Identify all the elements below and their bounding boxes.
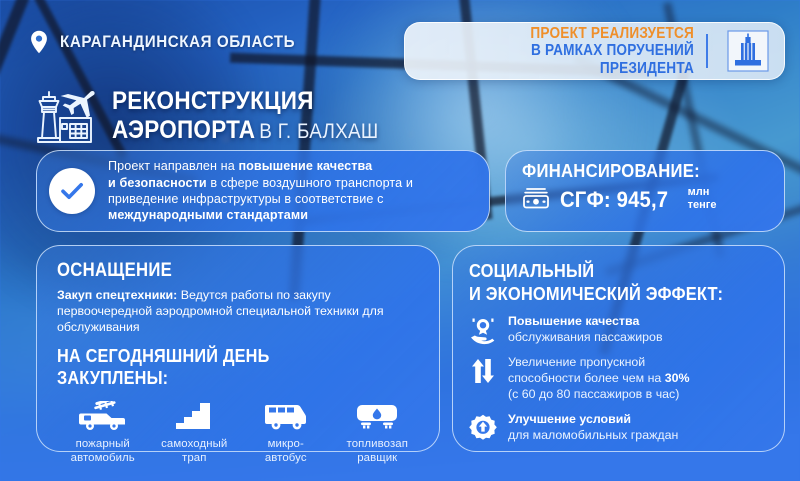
fuel-tanker-icon [332, 399, 424, 431]
label-line-1: самоходный [161, 438, 227, 450]
president-badge-line-2: В РАМКАХ ПОРУЧЕНИЙ ПРЕЗИДЕНТА [440, 42, 694, 77]
list-item-label: самоходный трап [149, 438, 241, 465]
list-item: Повышение качества обслуживания пассажир… [469, 314, 770, 346]
effect-line-2-highlight: 30% [665, 371, 690, 385]
financing-amount: СГФ: 945,7 [560, 187, 668, 213]
financing-card: ФИНАНСИРОВАНИЕ: СГФ: 945,7 [505, 150, 785, 232]
list-item-text: Увеличение пропускной способности более … [508, 355, 690, 403]
list-item: Улучшение условий для маломобильных граж… [469, 412, 770, 444]
region-label: КАРАГАНДИНСКАЯ ОБЛАСТЬ [60, 33, 295, 52]
label-line-2: равщик [357, 452, 397, 464]
effect-items-list: Повышение качества обслуживания пассажир… [469, 314, 770, 443]
social-economic-effect-card: СОЦИАЛЬНЫЙ И ЭКОНОМИЧЕСКИЙ ЭФФЕКТ: [452, 245, 785, 452]
list-item: пожарный автомобиль [57, 399, 149, 465]
desc-part-1: Проект направлен на [108, 159, 238, 173]
president-badge-line-1: ПРОЕКТ РЕАЛИЗУЕТСЯ [440, 25, 694, 42]
purchased-equipment-list: пожарный автомобиль самоходный трап [57, 399, 423, 465]
title-line-2-light: В Г. БАЛХАШ [259, 120, 378, 143]
financing-unit-line-1: млн [688, 186, 710, 198]
list-item-label: топливозап равщик [332, 438, 424, 465]
project-description-card: Проект направлен на повышение качестваи … [36, 150, 490, 232]
list-item-text: Улучшение условий для маломобильных граж… [508, 412, 678, 444]
list-item: топливозап равщик [332, 399, 424, 465]
boarding-stairs-icon [149, 399, 241, 431]
gear-up-arrow-icon [469, 412, 497, 442]
financing-unit: млн тенге [688, 186, 717, 213]
airport-tower-icon [24, 88, 98, 144]
list-item-label: микро- автобус [240, 438, 332, 465]
list-item-label: пожарный автомобиль [57, 438, 149, 465]
region-header: КАРАГАНДИНСКАЯ ОБЛАСТЬ [30, 30, 316, 54]
president-mandate-badge: ПРОЕКТ РЕАЛИЗУЕТСЯ В РАМКАХ ПОРУЧЕНИЙ ПР… [404, 22, 785, 80]
effect-line-1: Повышение качества [508, 314, 639, 328]
financing-title: ФИНАНСИРОВАНИЕ: [522, 160, 745, 182]
effect-line-3: (с 60 до 80 пассажиров в час) [508, 387, 679, 401]
effect-line-1: Улучшение условий [508, 412, 631, 426]
kazakhstan-emblem-icon [726, 29, 770, 73]
project-description-text: Проект направлен на повышение качестваи … [108, 158, 475, 223]
effect-heading-line-2: И ЭКОНОМИЧЕСКИЙ ЭФФЕКТ: [469, 283, 737, 306]
list-item: Увеличение пропускной способности более … [469, 355, 770, 403]
check-circle-icon [49, 168, 95, 214]
label-line-1: микро- [268, 438, 304, 450]
title-line-2-strong: АЭРОПОРТА [112, 116, 255, 144]
label-line-2: трап [182, 452, 206, 464]
location-pin-icon [30, 30, 48, 54]
infographic-poster: КАРАГАНДИНСКАЯ ОБЛАСТЬ [0, 0, 800, 481]
financing-unit-line-2: тенге [688, 199, 717, 211]
list-item-text: Повышение качества обслуживания пассажир… [508, 314, 663, 346]
label-line-1: топливозап [347, 438, 408, 450]
label-line-1: пожарный [76, 438, 130, 450]
banknote-icon [522, 186, 550, 213]
title-line-1: РЕКОНСТРУКЦИЯ [112, 89, 379, 115]
effect-line-2: для маломобильных граждан [508, 428, 678, 442]
effect-heading-line-1: СОЦИАЛЬНЫЙ [469, 260, 737, 283]
quality-hand-icon [469, 314, 497, 346]
list-item: микро- автобус [240, 399, 332, 465]
project-title: РЕКОНСТРУКЦИЯ АЭРОПОРТА В Г. БАЛХАШ [24, 88, 408, 144]
desc-bold-2: международными стандартами [108, 208, 308, 222]
list-item: самоходный трап [149, 399, 241, 465]
badge-divider [706, 34, 708, 68]
equipment-body-bold: Закуп спецтехники: [57, 288, 177, 302]
effect-line-2: обслуживания пассажиров [508, 330, 663, 344]
effect-line-2: способности более чем на [508, 371, 665, 385]
label-line-2: автомобиль [71, 452, 135, 464]
equipment-body-text: Закуп спецтехники: Ведутся работы по зак… [57, 287, 423, 335]
title-line-2: АЭРОПОРТА В Г. БАЛХАШ [112, 118, 379, 144]
label-line-2: автобус [265, 452, 307, 464]
minibus-icon [240, 399, 332, 431]
effect-line-1: Увеличение пропускной [508, 355, 645, 369]
fire-truck-icon [57, 399, 149, 431]
equipment-subheading: НА СЕГОДНЯШНИЙ ДЕНЬ ЗАКУПЛЕНЫ: [57, 345, 379, 389]
equipment-card: ОСНАЩЕНИЕ Закуп спецтехники: Ведутся раб… [36, 245, 440, 452]
equipment-heading: ОСНАЩЕНИЕ [57, 260, 379, 282]
up-down-arrows-icon [469, 355, 497, 385]
